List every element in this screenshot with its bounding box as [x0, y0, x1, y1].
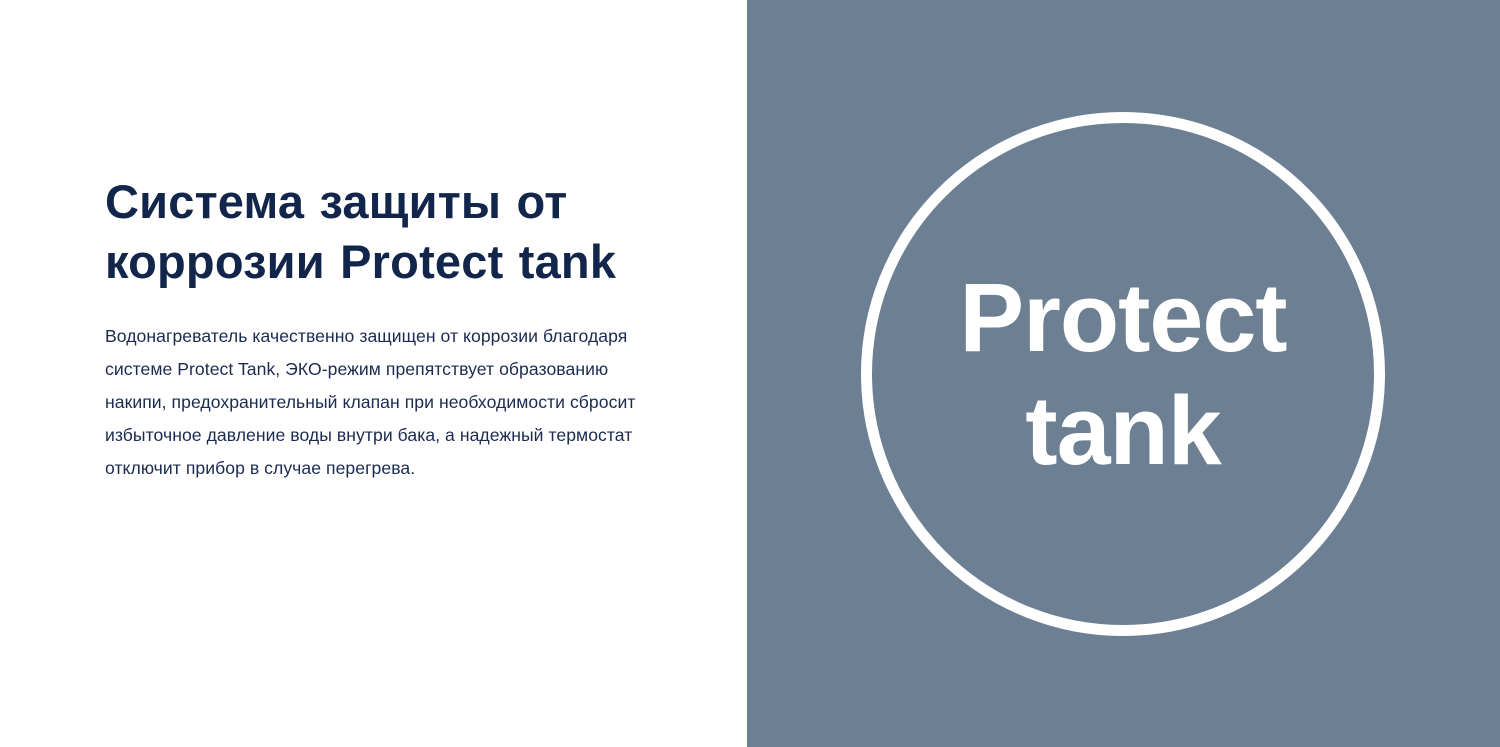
badge-pane: Protect tank	[747, 0, 1500, 747]
feature-text-pane: Система защиты от коррозии Protect tank …	[0, 0, 747, 747]
badge-line-one: Protect	[959, 261, 1286, 374]
feature-section: Система защиты от коррозии Protect tank …	[0, 0, 1500, 747]
badge-line-two: tank	[1025, 374, 1220, 487]
feature-description: Водонагреватель качественно защищен от к…	[105, 292, 642, 485]
badge-label: Protect tank	[861, 112, 1385, 636]
feature-text-block: Система защиты от коррозии Protect tank …	[105, 172, 650, 485]
feature-title: Система защиты от коррозии Protect tank	[105, 172, 650, 292]
protect-tank-badge: Protect tank	[861, 112, 1385, 636]
